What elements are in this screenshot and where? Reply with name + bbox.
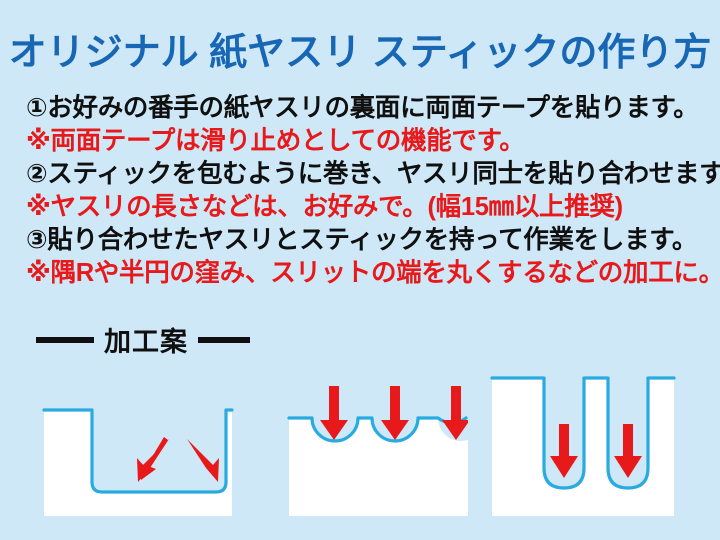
corner-radius-groove-svg — [40, 370, 236, 520]
rule-right-icon — [198, 337, 250, 343]
section-header: 加工案 — [36, 320, 250, 359]
arrow-down-1-icon — [320, 386, 348, 440]
rule-left-icon — [36, 337, 94, 343]
half-circle-recess-svg — [286, 370, 468, 520]
arrow-down-2-icon — [381, 386, 409, 440]
arrow-down-3-icon — [442, 386, 468, 440]
diagram-slit-rounded-end — [488, 368, 678, 518]
instruction-line-3: ②スティックを包むように巻き、ヤスリ同士を貼り合わせます。 — [26, 158, 706, 191]
poster-root: オリジナル 紙ヤスリ スティックの作り方 ①お好みの番手の紙ヤスリの裏面に両面テ… — [0, 0, 720, 540]
instruction-line-1: ①お好みの番手の紙ヤスリの裏面に両面テープを貼ります。 — [26, 92, 706, 125]
slit-rounded-end-svg — [488, 368, 678, 518]
arrow-down-slit-1-icon — [550, 424, 578, 478]
instruction-line-6: ※隅Rや半円の窪み、スリットの端を丸くするなどの加工に。 — [26, 257, 706, 290]
section-heading-label: 加工案 — [104, 320, 188, 359]
instruction-line-4: ※ヤスリの長さなどは、お好みで。(幅15㎜以上推奨) — [26, 191, 706, 224]
instruction-line-5: ③貼り合わせたヤスリとスティックを持って作業をします。 — [26, 224, 706, 257]
arrow-down-left-icon — [137, 437, 169, 482]
instruction-list: ①お好みの番手の紙ヤスリの裏面に両面テープを貼ります。 ※両面テープは滑り止めと… — [26, 92, 706, 290]
arrow-down-right-icon — [187, 439, 219, 482]
page-title: オリジナル 紙ヤスリ スティックの作り方 — [0, 34, 720, 74]
instruction-line-2: ※両面テープは滑り止めとしての機能です。 — [26, 125, 706, 158]
processing-examples-group — [0, 360, 720, 520]
diagram-corner-radius-groove — [40, 370, 236, 520]
diagram-half-circle-recess — [286, 370, 468, 520]
arrow-down-slit-2-icon — [614, 424, 642, 478]
